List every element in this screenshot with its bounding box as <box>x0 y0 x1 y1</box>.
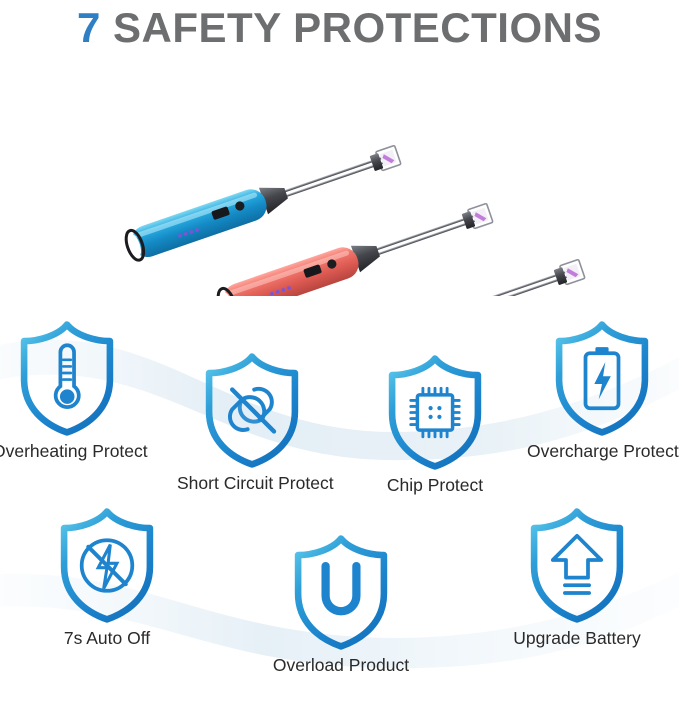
badge-overload-product: Overload Product <box>266 532 416 676</box>
microchip-icon <box>411 388 459 436</box>
shield-short-circuit <box>197 350 307 470</box>
title-number: 7 <box>77 4 101 51</box>
title-text: SAFETY PROTECTIONS <box>101 4 602 51</box>
badge-label: Short Circuit Protect <box>177 472 327 494</box>
letter-u-icon <box>326 566 357 611</box>
shield-overheating <box>12 318 122 438</box>
badge-chip-protect: Chip Protect <box>360 352 510 496</box>
badge-label: Overload Product <box>266 654 416 676</box>
badge-overheating-protect: Overheating Protect <box>0 318 142 462</box>
no-bolt-icon <box>82 540 133 591</box>
up-arrow-icon <box>553 536 601 593</box>
badge-label: 7s Auto Off <box>32 627 182 649</box>
badge-label: Chip Protect <box>360 474 510 496</box>
broken-link-icon <box>230 389 274 432</box>
badge-label: Upgrade Battery <box>502 627 652 649</box>
shield-overload <box>286 532 396 652</box>
infographic-page: 7 SAFETY PROTECTIONS <box>0 0 679 707</box>
product-lighters-group <box>70 96 610 296</box>
badge-label: Overcharge Protect <box>527 440 677 462</box>
badge-overcharge-protect: Overcharge Protect <box>527 318 677 462</box>
shield-chip <box>380 352 490 472</box>
badge-auto-off: 7s Auto Off <box>32 505 182 649</box>
shield-upgrade-battery <box>522 505 632 625</box>
thermometer-icon <box>56 345 79 407</box>
lighter-blue <box>123 140 403 263</box>
badge-upgrade-battery: Upgrade Battery <box>502 505 652 649</box>
battery-bolt-icon <box>586 347 619 408</box>
badge-label: Overheating Protect <box>0 440 142 462</box>
page-title: 7 SAFETY PROTECTIONS <box>0 2 679 54</box>
badge-short-circuit-protect: Short Circuit Protect <box>177 350 327 494</box>
shield-auto-off <box>52 505 162 625</box>
shield-overcharge <box>547 318 657 438</box>
